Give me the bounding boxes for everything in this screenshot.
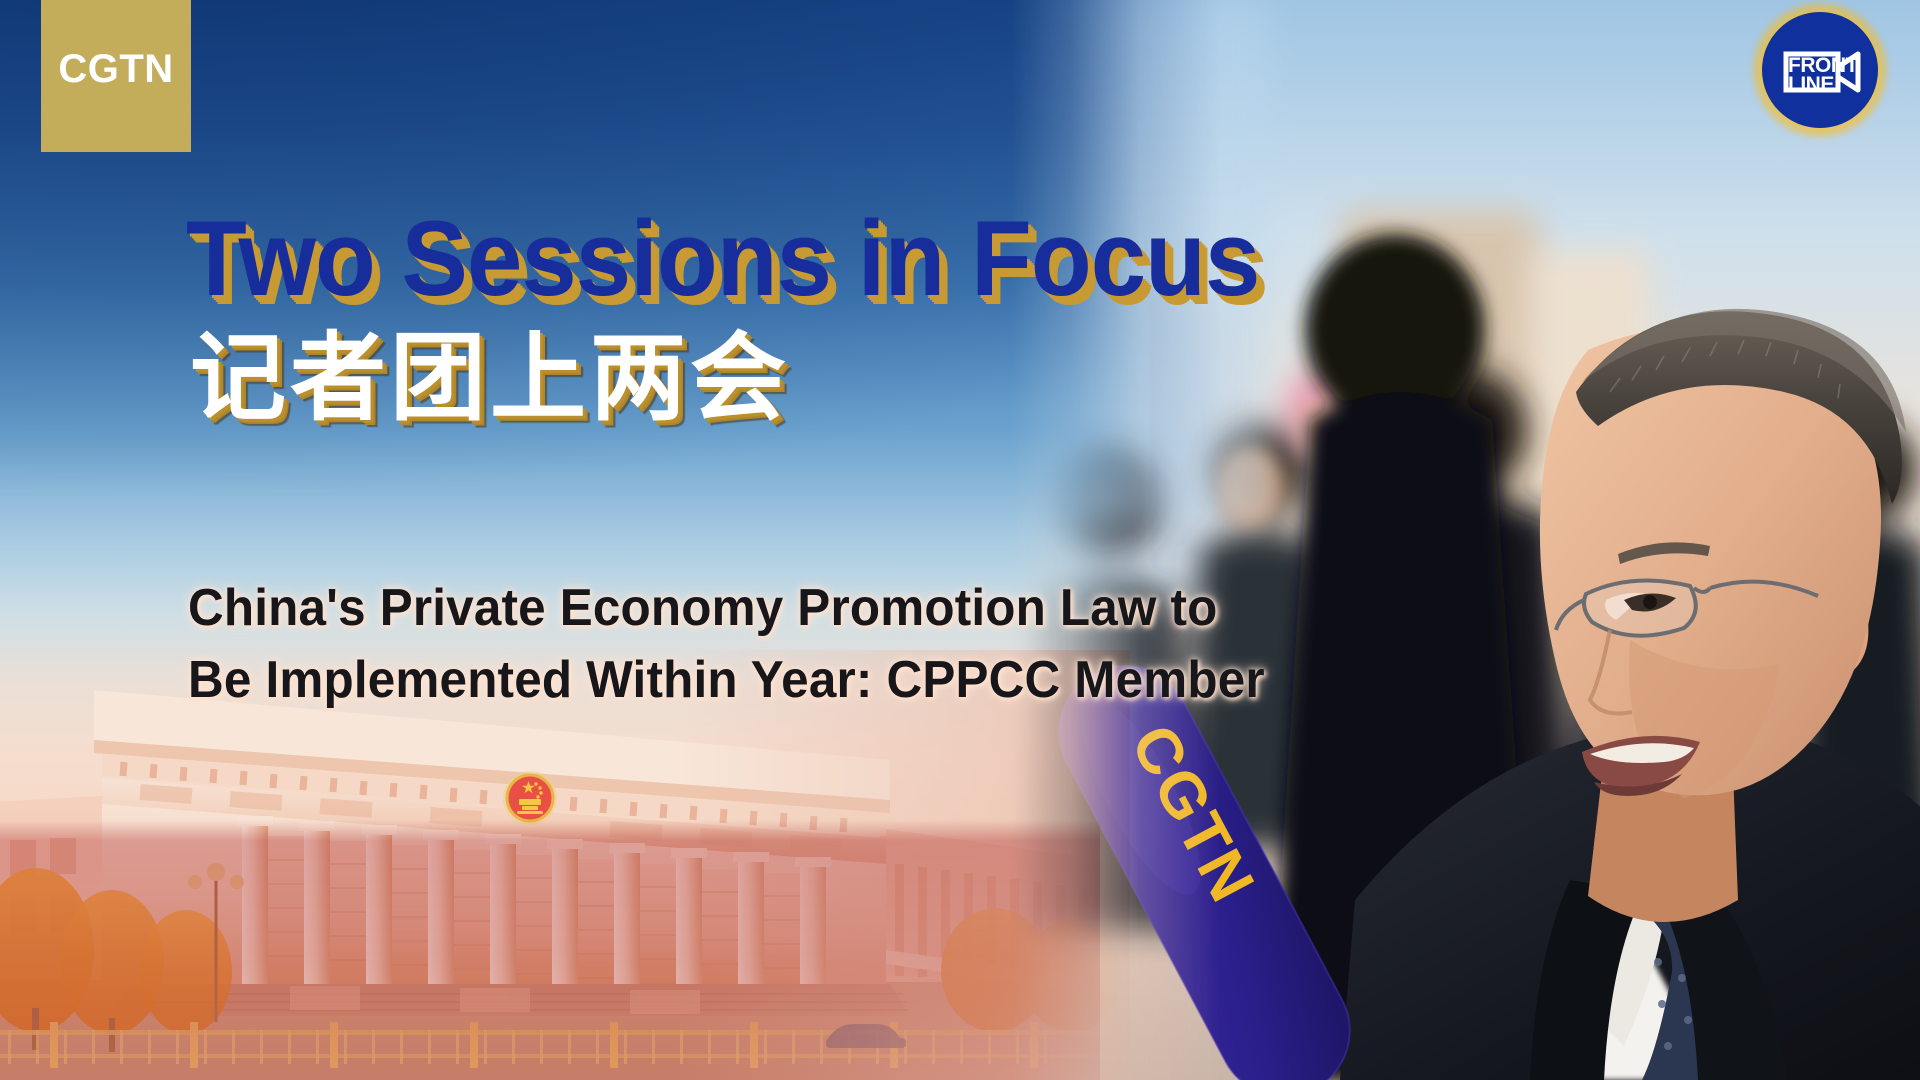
headline-line-2: Be Implemented Within Year: CPPCC Member [188,645,1265,717]
frontline-camera-icon: FRONT LINE [1762,12,1878,128]
frontline-badge[interactable]: FRONT LINE [1762,12,1878,128]
graphic-canvas: CGTN CGTN FRONT LINE Two Se [0,0,1920,1080]
program-title-english: Two Sessions in Focus [186,205,1259,312]
program-title-chinese: 记者团上两会 [190,330,790,426]
headline-line-1: China's Private Economy Promotion Law to [188,573,1265,645]
headline: China's Private Economy Promotion Law to… [188,573,1265,717]
cgtn-logo[interactable]: CGTN [41,0,191,152]
frontline-badge-line2: LINE [1788,73,1834,96]
national-emblem [503,771,557,825]
interview-photo: CGTN [1010,0,1920,1080]
cgtn-logo-text: CGTN [58,47,173,92]
